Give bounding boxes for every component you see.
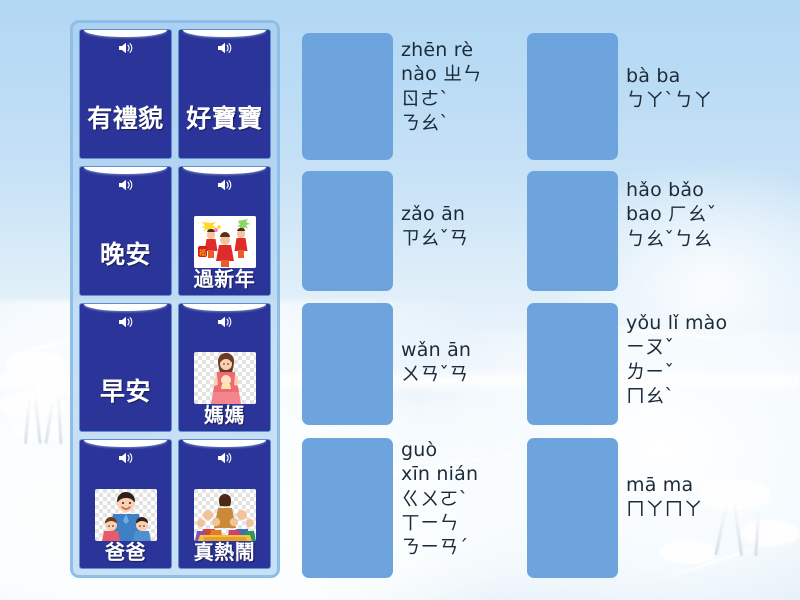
card-ma-ma[interactable]: 媽媽	[178, 303, 271, 433]
answer-text-ba-ba: bà ba ㄅㄚˋㄅㄚ	[626, 64, 761, 113]
card-grid: 有禮貌 好寶寶 晚安	[79, 29, 271, 569]
card-image-chinese-new-year-children: 福	[194, 216, 256, 268]
snow-cap	[84, 303, 167, 311]
card-label: 真熱鬧	[194, 542, 256, 568]
card-label: 晚安	[100, 242, 151, 294]
snow-cap	[84, 29, 167, 37]
dropzone-1[interactable]	[302, 33, 393, 160]
speaker-icon[interactable]	[118, 178, 134, 192]
snow-cap	[84, 439, 167, 447]
speaker-icon[interactable]	[217, 178, 233, 192]
dropzone-5[interactable]	[527, 33, 618, 160]
speaker-icon[interactable]	[118, 315, 134, 329]
card-zao-an[interactable]: 早安	[79, 303, 172, 433]
answer-text-zhen-re-nao: zhēn rè nào ㄓㄣ ㄖㄜˋ ㄋㄠˋ	[401, 38, 521, 135]
svg-text:福: 福	[199, 248, 206, 257]
answer-text-wan-an: wǎn ān ㄨㄢˇㄢ	[401, 338, 521, 387]
card-you-li-mao[interactable]: 有禮貌	[79, 29, 172, 159]
snow-cap	[183, 166, 266, 174]
snow-cap	[183, 439, 266, 447]
card-guo-xin-nian[interactable]: 福 過新年	[178, 166, 271, 296]
dropzone-8[interactable]	[527, 438, 618, 578]
snow-cap	[84, 166, 167, 174]
speaker-icon[interactable]	[217, 41, 233, 55]
snow-clump	[660, 540, 716, 564]
card-zhen-re-nao[interactable]: 真熱鬧	[178, 439, 271, 569]
card-label: 好寶寶	[186, 106, 263, 158]
card-hao-bao-bao[interactable]: 好寶寶	[178, 29, 271, 159]
dropzone-6[interactable]	[527, 171, 618, 291]
answer-text-hao-bao-bao: hǎo bǎo bao ㄏㄠˇ ㄅㄠˇㄅㄠ	[626, 178, 761, 251]
snow-cap	[183, 303, 266, 311]
answer-text-you-li-mao: yǒu lǐ mào ㄧㄡˇ ㄌㄧˇ ㄇㄠˋ	[626, 311, 761, 408]
card-label: 爸爸	[105, 542, 146, 568]
snow-cap	[183, 29, 266, 37]
speaker-icon[interactable]	[118, 451, 134, 465]
card-label: 媽媽	[204, 405, 245, 431]
dropzone-7[interactable]	[527, 303, 618, 425]
answer-text-guo-xin-nian: guò xīn nián ㄍㄨㄛˋ ㄒㄧㄣ ㄋㄧㄢˊ	[401, 438, 521, 560]
answer-text-ma-ma: mā ma ㄇㄚㄇㄚ	[626, 473, 761, 522]
card-label: 過新年	[194, 269, 256, 295]
card-image-father-with-children	[95, 489, 157, 541]
card-image-festive-crowd	[194, 489, 256, 541]
speaker-icon[interactable]	[217, 451, 233, 465]
card-label: 早安	[100, 379, 151, 431]
card-panel: 有禮貌 好寶寶 晚安	[70, 20, 280, 578]
dropzone-2[interactable]	[302, 171, 393, 291]
card-wan-an[interactable]: 晚安	[79, 166, 172, 296]
dropzone-3[interactable]	[302, 303, 393, 425]
speaker-icon[interactable]	[118, 41, 134, 55]
card-label: 有禮貌	[87, 106, 164, 158]
card-ba-ba[interactable]: 爸爸	[79, 439, 172, 569]
snow-clump	[740, 520, 800, 546]
dropzone-4[interactable]	[302, 438, 393, 578]
answer-text-zao-an: zǎo ān ㄗㄠˇㄢ	[401, 202, 521, 251]
card-image-mother-holding-baby	[194, 352, 256, 404]
speaker-icon[interactable]	[217, 315, 233, 329]
